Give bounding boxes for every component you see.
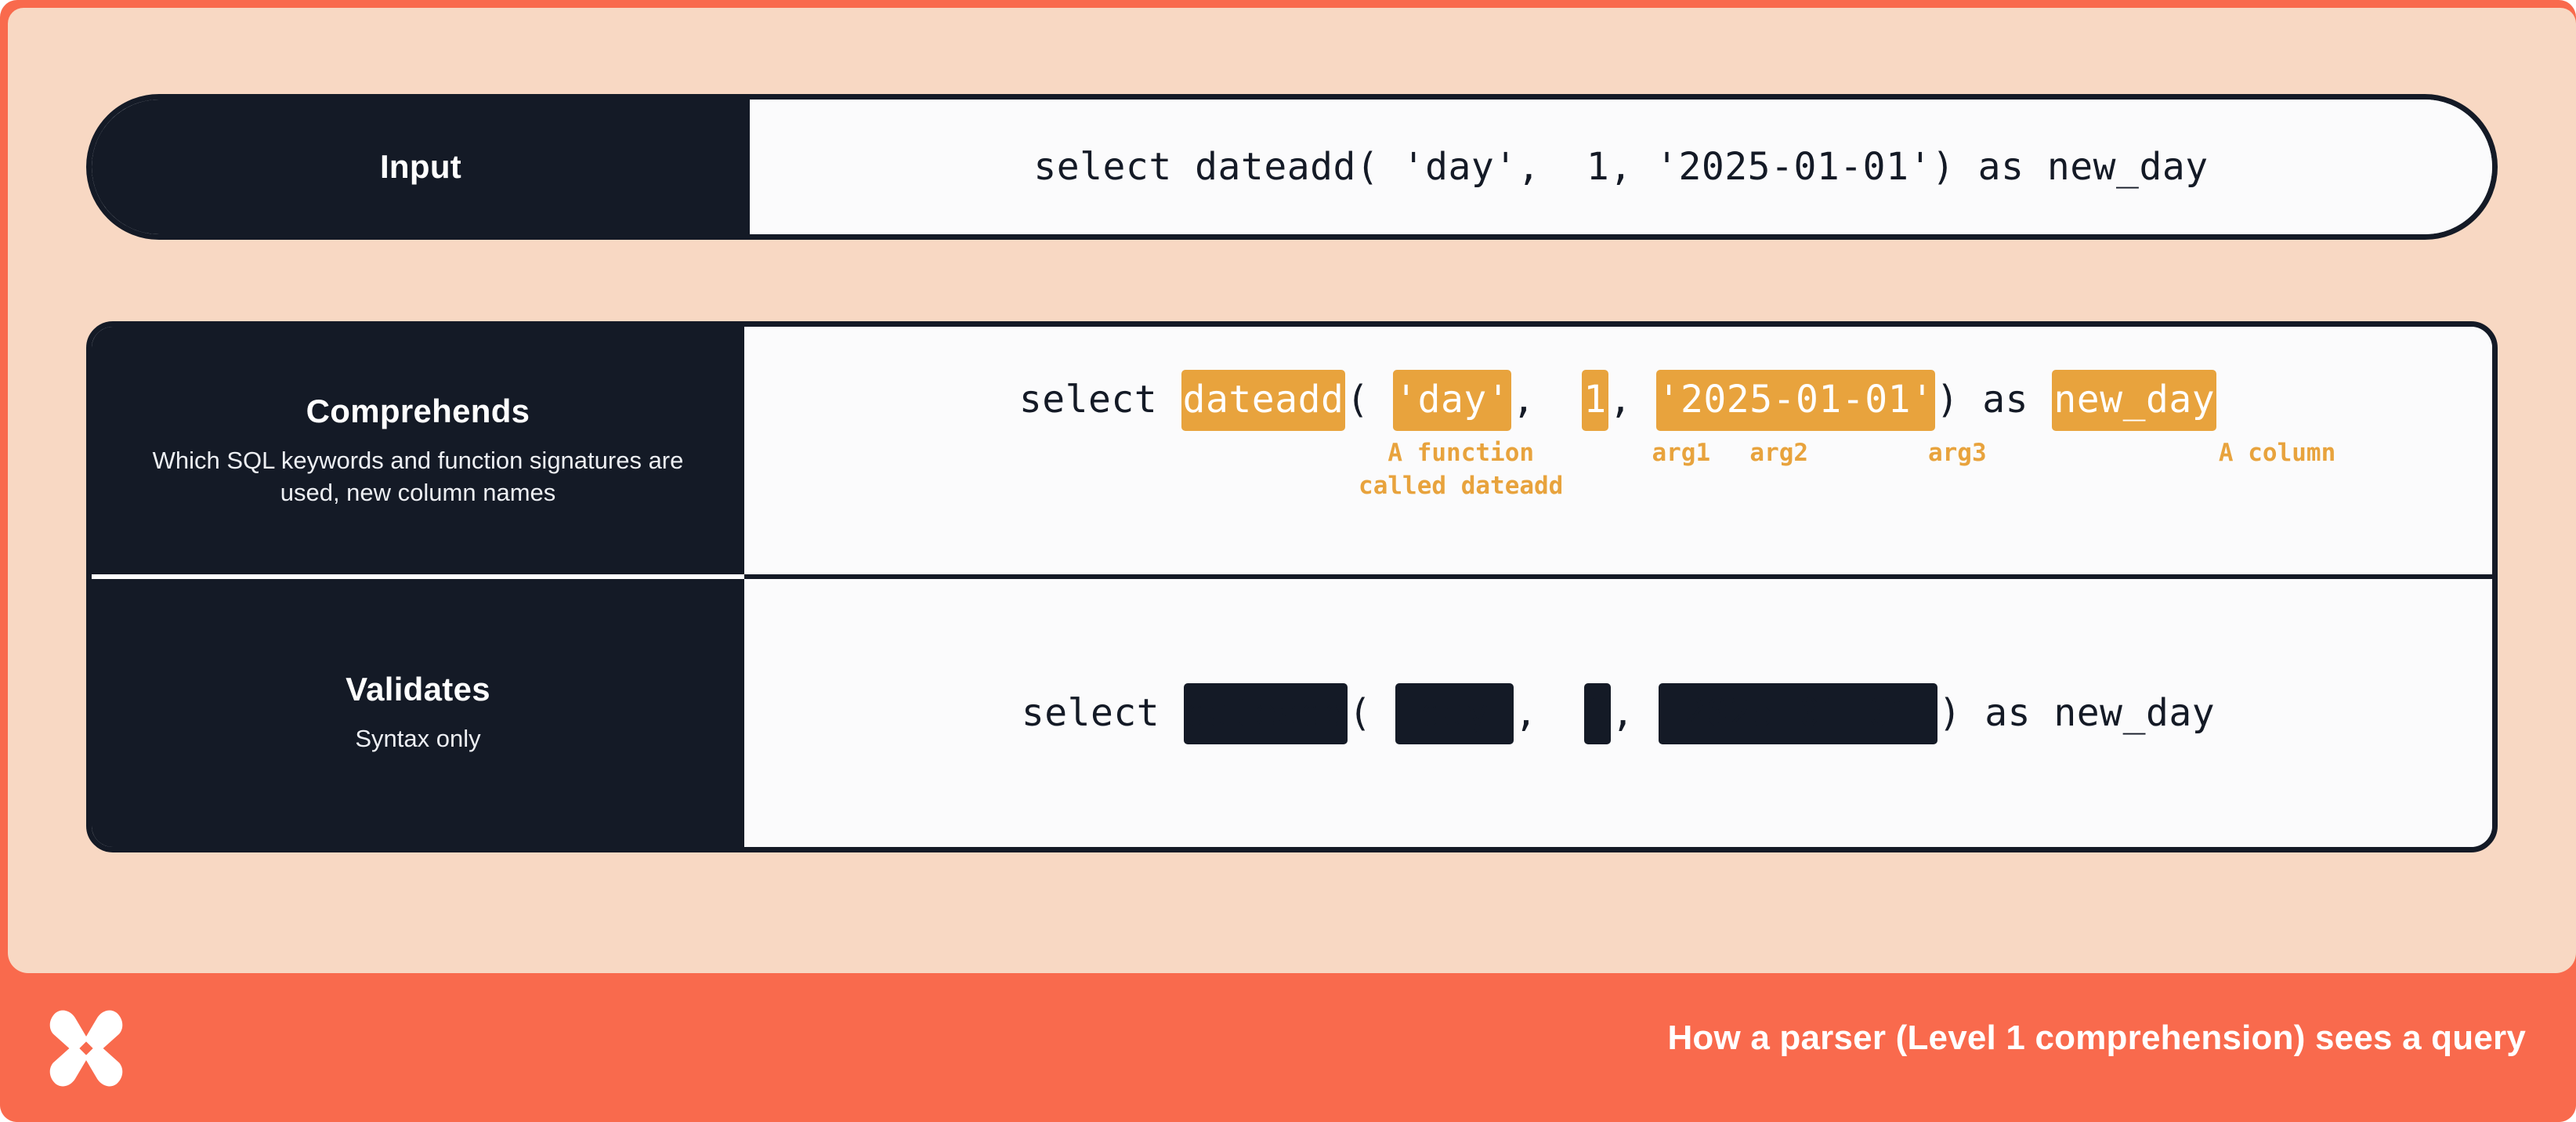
highlighted-token: 'day': [1393, 370, 1511, 431]
redacted-token: 1: [1584, 683, 1610, 744]
annotation-label: arg2: [1749, 436, 1808, 469]
highlighted-token: 1: [1582, 370, 1608, 431]
comprehends-code-line: select dateadd( 'day', 1, '2025-01-01') …: [744, 371, 2492, 429]
code-text: select dateadd( 'day', 1, '2025-01-01') …: [1022, 691, 2215, 735]
footer-caption: How a parser (Level 1 comprehension) see…: [1667, 1019, 2526, 1058]
redacted-token: '2025-01-01': [1659, 683, 1938, 744]
input-row-label: Input: [92, 100, 750, 234]
code-token: (: [1348, 691, 1395, 735]
four-pointed-star-logo-icon: [44, 1006, 128, 1091]
highlighted-token: new_day: [2052, 370, 2216, 431]
annotation-label: arg1: [1652, 436, 1710, 469]
validates-row-code: select dateadd( 'day', 1, '2025-01-01') …: [744, 574, 2492, 847]
input-label-text: Input: [380, 148, 461, 186]
poster-canvas: Input select dateadd( 'day', 1, '2025-01…: [0, 0, 2576, 1122]
content-panel: Input select dateadd( 'day', 1, '2025-01…: [8, 8, 2576, 973]
redacted-token: 'day': [1395, 683, 1514, 744]
annotation-label: arg3: [1928, 436, 1987, 469]
code-token: (: [1346, 378, 1392, 422]
comprehends-subtitle: Which SQL keywords and function signatur…: [144, 444, 693, 509]
annotation-label: A column: [2219, 436, 2335, 469]
validates-title: Validates: [346, 671, 490, 708]
code-token: ) as new_day: [1938, 691, 2215, 735]
input-row: Input select dateadd( 'day', 1, '2025-01…: [86, 94, 2498, 240]
annotation-label: A function called dateadd: [1359, 436, 1563, 502]
validates-code-line: select dateadd( 'day', 1, '2025-01-01') …: [744, 579, 2492, 847]
comprehends-row-label: Comprehends Which SQL keywords and funct…: [92, 327, 744, 574]
validates-subtitle: Syntax only: [355, 722, 480, 755]
comprehends-annotations: A function called dateaddarg1arg2arg3A c…: [744, 436, 2492, 546]
code-token: select: [1019, 378, 1181, 422]
code-token: select: [1022, 691, 1183, 735]
code-token: ,: [1609, 378, 1655, 422]
highlighted-token: '2025-01-01': [1656, 370, 1936, 431]
code-token: ,: [1612, 691, 1658, 735]
code-token: ,: [1514, 691, 1583, 735]
comprehends-row: Comprehends Which SQL keywords and funct…: [92, 327, 2492, 574]
input-row-code: select dateadd( 'day', 1, '2025-01-01') …: [750, 100, 2492, 234]
code-text: select dateadd( 'day', 1, '2025-01-01') …: [1019, 378, 2217, 422]
code-token: ) as: [1936, 378, 2051, 422]
validates-row: Validates Syntax only select dateadd( 'd…: [92, 574, 2492, 847]
comprehends-title: Comprehends: [306, 393, 530, 430]
highlighted-token: dateadd: [1181, 370, 1346, 431]
redacted-token: dateadd: [1184, 683, 1348, 744]
analysis-card: Comprehends Which SQL keywords and funct…: [86, 321, 2498, 852]
validates-row-label: Validates Syntax only: [92, 574, 744, 847]
code-token: ,: [1512, 378, 1581, 422]
input-code-text: select dateadd( 'day', 1, '2025-01-01') …: [1033, 145, 2208, 189]
footer-bar: How a parser (Level 1 comprehension) see…: [0, 973, 2576, 1122]
comprehends-row-code: select dateadd( 'day', 1, '2025-01-01') …: [744, 327, 2492, 574]
